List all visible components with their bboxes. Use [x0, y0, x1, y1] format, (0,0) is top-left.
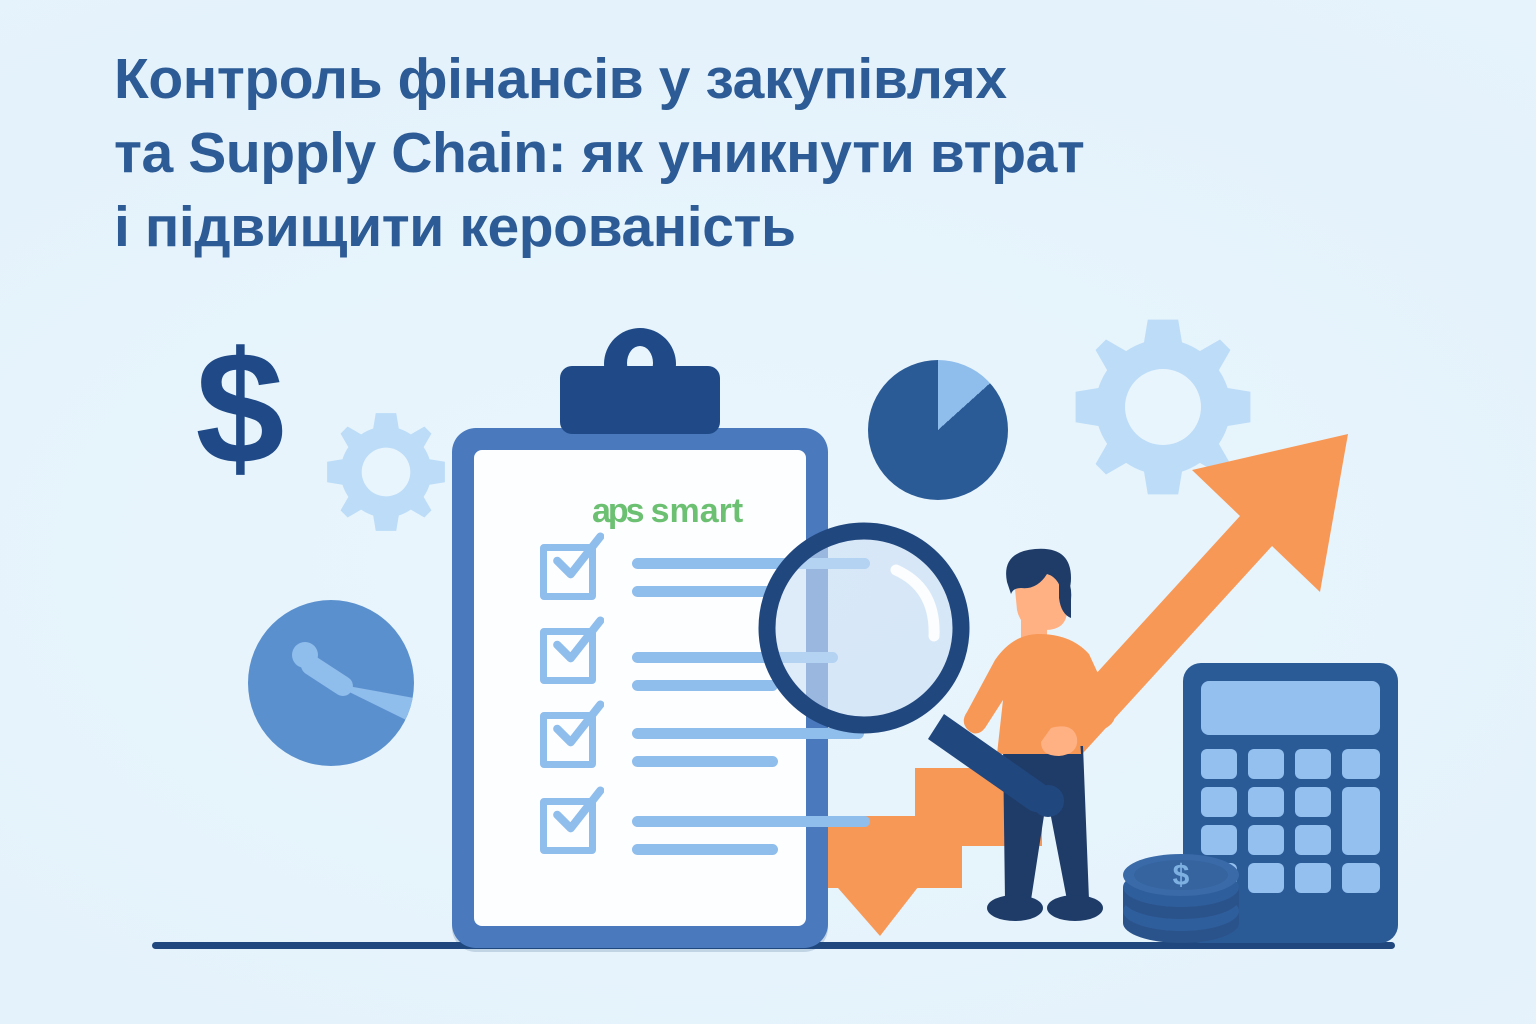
title-line-3: і підвищити керованість: [114, 190, 1404, 264]
check-icon: [550, 786, 604, 840]
calculator-key[interactable]: [1342, 863, 1380, 893]
gauge-icon: [248, 600, 414, 766]
magnifier-icon: [748, 518, 1078, 818]
calculator-key[interactable]: [1248, 787, 1284, 817]
list-line-secondary: [632, 844, 778, 855]
calculator-key[interactable]: [1295, 749, 1331, 779]
character-shoe-right: [1047, 895, 1103, 921]
calculator-key[interactable]: [1295, 787, 1331, 817]
clipboard-clip: [560, 366, 720, 434]
check-icon: [550, 532, 604, 586]
title-line-2: та Supply Chain: як уникнути втрат: [114, 116, 1404, 190]
calculator-key[interactable]: [1201, 787, 1237, 817]
page-title: Контроль фінансів у закупівлях та Supply…: [114, 42, 1404, 264]
character-shoe-left: [987, 895, 1043, 921]
gauge-needle: [297, 651, 357, 699]
aps-smart-logo: apssmart: [592, 492, 743, 531]
illustration-canvas: Контроль фінансів у закупівлях та Supply…: [0, 0, 1536, 1024]
check-icon: [550, 616, 604, 670]
title-line-1: Контроль фінансів у закупівлях: [114, 42, 1404, 116]
calculator-key[interactable]: [1295, 825, 1331, 855]
gear-icon-small: [322, 408, 450, 536]
calculator-key[interactable]: [1201, 749, 1237, 779]
calculator-key[interactable]: [1342, 749, 1380, 779]
logo-mark: aps: [592, 492, 642, 531]
check-icon: [550, 700, 604, 754]
calculator-key[interactable]: [1248, 825, 1284, 855]
dollar-sign-icon: $: [190, 343, 290, 483]
calculator-key[interactable]: [1295, 863, 1331, 893]
calculator-key[interactable]: [1248, 749, 1284, 779]
coin-dollar-symbol: $: [1173, 859, 1190, 892]
calculator-key[interactable]: [1248, 863, 1284, 893]
calculator-display: [1201, 681, 1380, 735]
logo-word: smart: [651, 492, 744, 531]
calculator-key-tall[interactable]: [1342, 787, 1380, 855]
